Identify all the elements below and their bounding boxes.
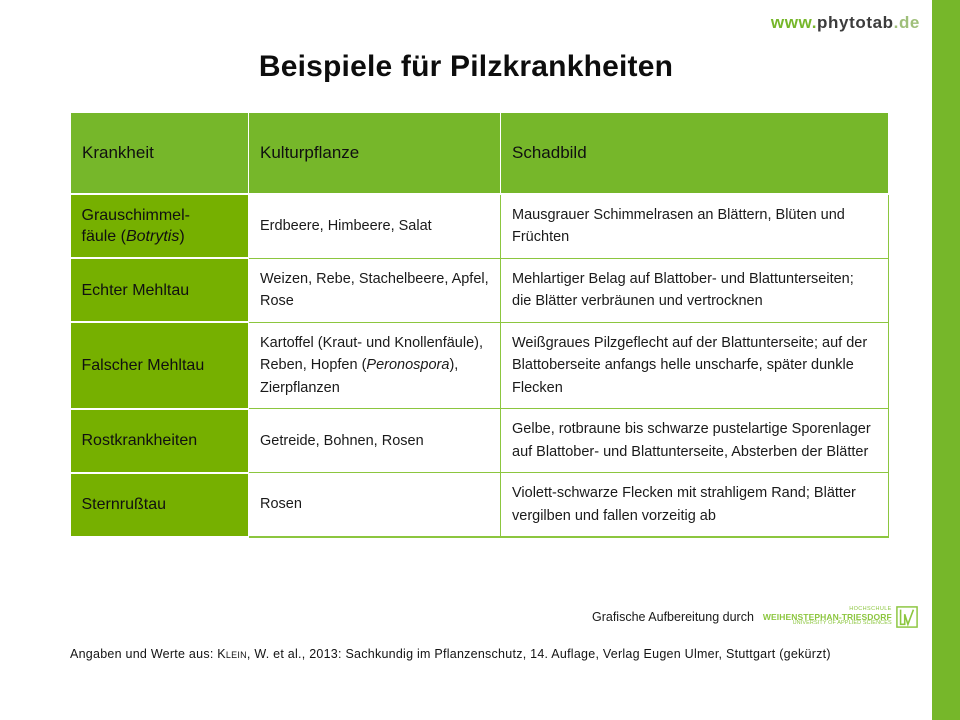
university-logo-line3: UNIVERSITY OF APPLIED SCIENCES bbox=[793, 621, 892, 627]
column-header-crop: Kulturpflanze bbox=[249, 113, 501, 195]
column-header-symptoms: Schadbild bbox=[501, 113, 889, 195]
table-row: Sternrußtau Rosen Violett-schwarze Fleck… bbox=[71, 473, 889, 537]
fungal-diseases-table: Krankheit Kulturpflanze Schadbild Grausc… bbox=[70, 112, 889, 538]
university-logo: HOCHSCHULE WEIHENSTEPHAN-TRIESDORF UNIVE… bbox=[763, 606, 918, 628]
source-suffix: , W. et al., 2013: Sachkundig im Pflanze… bbox=[247, 647, 831, 661]
crop-scientific-name: Peronospora bbox=[366, 357, 449, 373]
disease-scientific-name: Botrytis bbox=[126, 228, 179, 245]
disease-name-cell: Sternrußtau bbox=[71, 473, 249, 537]
table-row: Rostkrankheiten Getreide, Bohnen, Rosen … bbox=[71, 409, 889, 473]
source-citation: Angaben und Werte aus: Klein, W. et al.,… bbox=[70, 644, 882, 665]
column-header-disease: Krankheit bbox=[71, 113, 249, 195]
crop-cell: Rosen bbox=[249, 473, 501, 537]
crop-cell: Getreide, Bohnen, Rosen bbox=[249, 409, 501, 473]
page-title: Beispiele für Pilzkrankheiten bbox=[0, 50, 932, 84]
brand-prefix: www. bbox=[771, 13, 817, 32]
disease-name-cell: Falscher Mehltau bbox=[71, 322, 249, 408]
disease-name-line2-prefix: fäule ( bbox=[82, 228, 126, 245]
site-brand-logo: www.phytotab.de bbox=[771, 13, 920, 33]
crop-cell: Kartoffel (Kraut- und Knollenfäule), Reb… bbox=[249, 322, 501, 408]
university-w-mark-icon bbox=[896, 606, 918, 628]
table-header-row: Krankheit Kulturpflanze Schadbild bbox=[71, 113, 889, 195]
university-wordmark: HOCHSCHULE WEIHENSTEPHAN-TRIESDORF UNIVE… bbox=[763, 607, 892, 627]
brand-name: phytotab bbox=[817, 13, 894, 32]
crop-cell: Erdbeere, Himbeere, Salat bbox=[249, 194, 501, 258]
source-prefix: Angaben und Werte aus: bbox=[70, 647, 217, 661]
symptom-cell: Violett-schwarze Flecken mit strahligem … bbox=[501, 473, 889, 537]
disease-name-cell: Echter Mehltau bbox=[71, 258, 249, 322]
credit-block: Grafische Aufbereitung durch HOCHSCHULE … bbox=[592, 606, 918, 628]
source-author: Klein bbox=[217, 647, 247, 661]
right-green-band bbox=[932, 0, 960, 720]
symptom-cell: Weißgraues Pilzgeflecht auf der Blattunt… bbox=[501, 322, 889, 408]
crop-cell: Weizen, Rebe, Stachelbeere, Apfel, Rose bbox=[249, 258, 501, 322]
disease-name-cell: Grauschimmel- fäule (Botrytis) bbox=[71, 194, 249, 258]
symptom-cell: Mausgrauer Schimmelrasen an Blättern, Bl… bbox=[501, 194, 889, 258]
disease-name-line2-suffix: ) bbox=[179, 228, 184, 245]
disease-name-line1: Grauschimmel- bbox=[82, 207, 190, 224]
symptom-cell: Mehlartiger Belag auf Blattober- und Bla… bbox=[501, 258, 889, 322]
brand-tld: .de bbox=[894, 13, 920, 32]
disease-name-cell: Rostkrankheiten bbox=[71, 409, 249, 473]
table-row: Echter Mehltau Weizen, Rebe, Stachelbeer… bbox=[71, 258, 889, 322]
table-row: Falscher Mehltau Kartoffel (Kraut- und K… bbox=[71, 322, 889, 408]
symptom-cell: Gelbe, rotbraune bis schwarze pustelarti… bbox=[501, 409, 889, 473]
table-row: Grauschimmel- fäule (Botrytis) Erdbeere,… bbox=[71, 194, 889, 258]
credit-text: Grafische Aufbereitung durch bbox=[592, 610, 754, 624]
